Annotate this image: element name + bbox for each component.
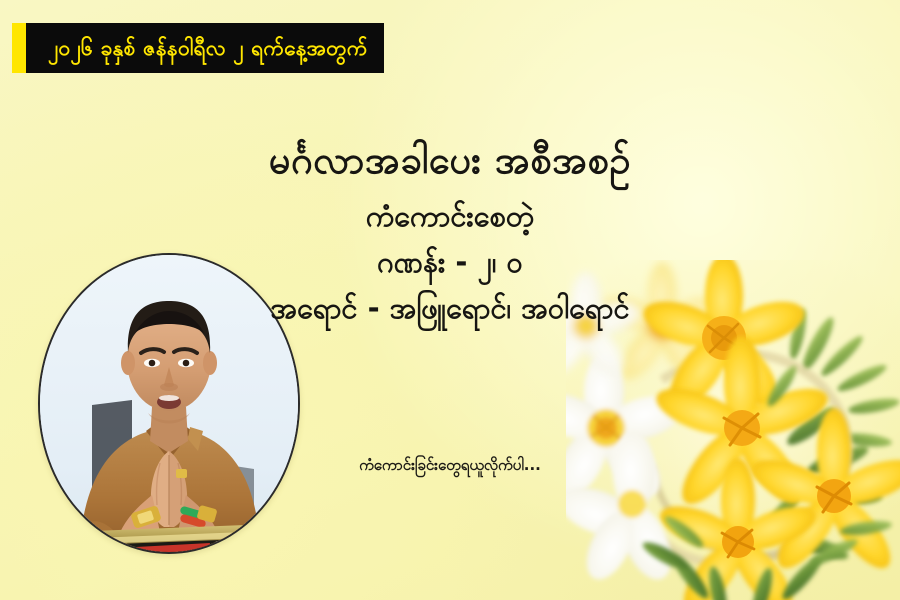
host-portrait-avatar: [38, 253, 300, 554]
astrology-poster: ၂၀၂၆ ခုနှစ် ဇန်နဝါရီလ ၂ ရက်နေ့အတွက် မင်္…: [0, 0, 900, 600]
banner-bar: ၂၀၂၆ ခုနှစ် ဇန်နဝါရီလ ၂ ရက်နေ့အတွက်: [26, 23, 384, 73]
portrait-illustration: [40, 255, 298, 552]
banner-accent-block: [12, 23, 26, 73]
footnote-text: ကံကောင်းခြင်းတွေရယူလိုက်ပါ...: [0, 456, 900, 478]
banner-date-text: ၂၀၂၆ ခုနှစ် ဇန်နဝါရီလ ၂ ရက်နေ့အတွက်: [48, 38, 368, 59]
date-banner: ၂၀၂၆ ခုနှစ် ဇန်နဝါရီလ ၂ ရက်နေ့အတွက်: [12, 23, 384, 73]
